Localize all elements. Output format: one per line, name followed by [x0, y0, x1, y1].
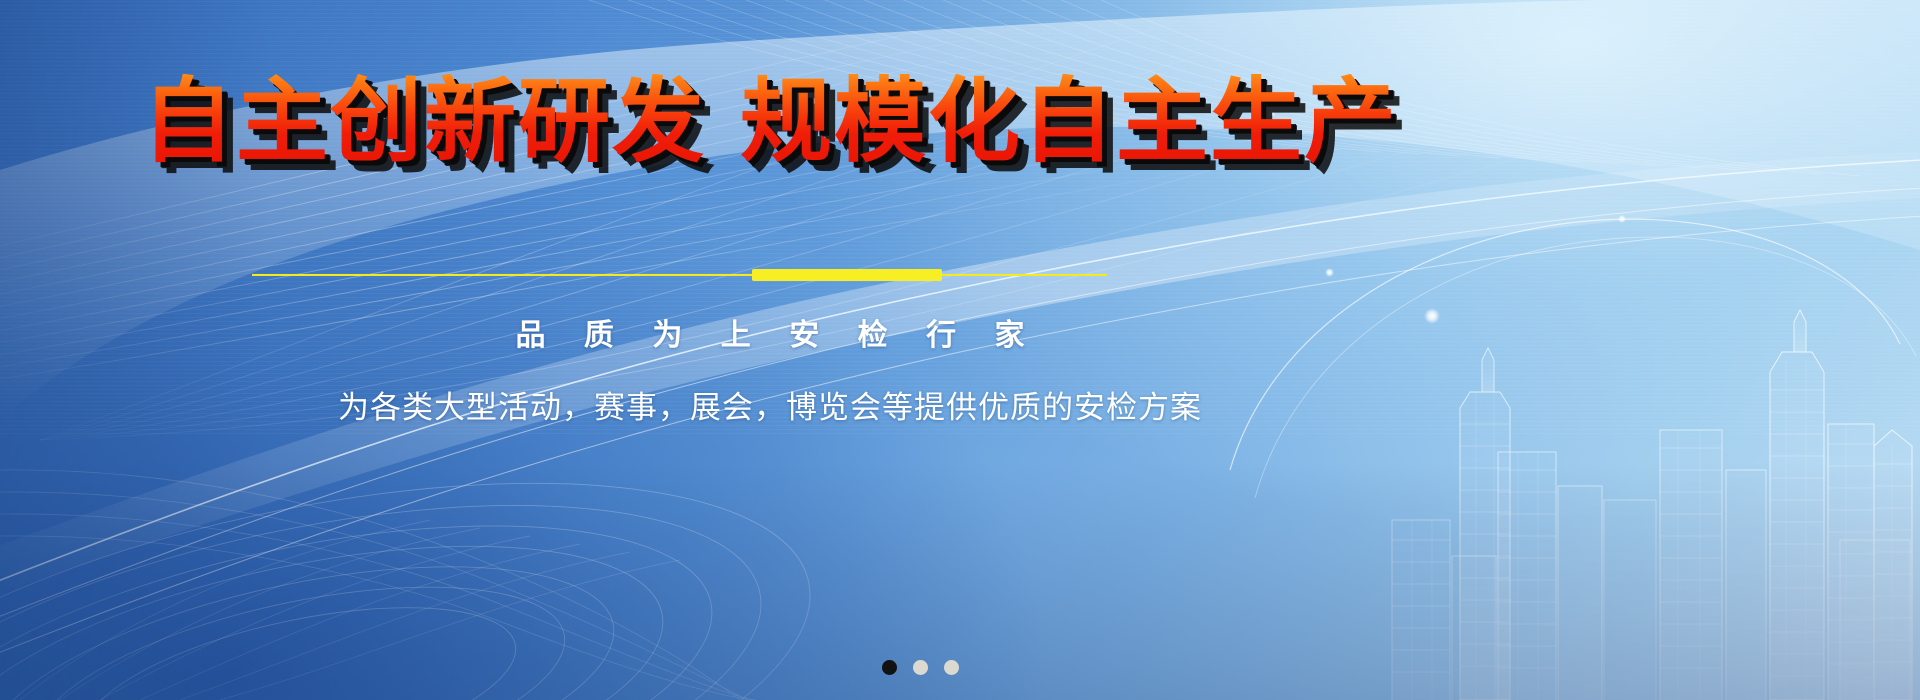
divider-thin-line [252, 274, 1107, 276]
divider-thick-bar [752, 269, 942, 281]
banner-content: 自主创新研发 规模化自主生产 品 质 为 上 安 检 行 家 为各类大型活动，赛… [0, 0, 1920, 700]
banner-main-title: 自主创新研发 规模化自主生产 [142, 74, 1398, 171]
banner-divider [0, 268, 1540, 284]
banner-subtitle-wrap: 品 质 为 上 安 检 行 家 为各类大型活动，赛事，展会，博览会等提供优质的安… [0, 310, 1540, 427]
banner-subtitle-secondary: 为各类大型活动，赛事，展会，博览会等提供优质的安检方案 [0, 382, 1540, 427]
carousel-dot-2[interactable] [913, 660, 928, 675]
banner-subtitle-primary: 品 质 为 上 安 检 行 家 [0, 310, 1540, 354]
hero-banner: 自主创新研发 规模化自主生产 品 质 为 上 安 检 行 家 为各类大型活动，赛… [0, 0, 1920, 700]
banner-title-wrap: 自主创新研发 规模化自主生产 [0, 74, 1540, 171]
carousel-dot-3[interactable] [944, 660, 959, 675]
carousel-dot-1[interactable] [882, 660, 897, 675]
carousel-dots [0, 660, 1840, 675]
